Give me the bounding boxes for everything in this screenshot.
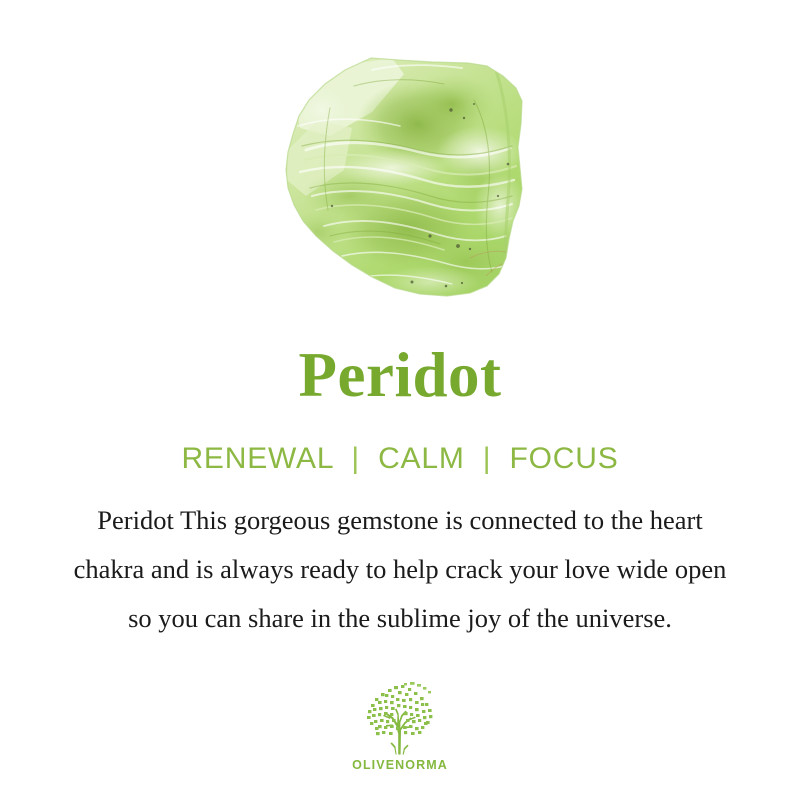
olive-tree-icon (354, 682, 446, 756)
gemstone-body (270, 40, 540, 310)
keyword-renewal: RENEWAL (181, 442, 333, 475)
product-card: Peridot RENEWAL | CALM | FOCUS Peridot T… (0, 0, 800, 800)
keyword-list: RENEWAL | CALM | FOCUS (0, 440, 800, 478)
keyword-separator: | (474, 442, 501, 475)
description-line: so you can share in the sublime joy of t… (24, 594, 776, 643)
description-text: Peridot This gorgeous gemstone is connec… (24, 496, 776, 643)
keyword-calm: CALM (378, 442, 465, 475)
keyword-focus: FOCUS (510, 442, 619, 475)
peridot-raw-crystal-icon (0, 0, 800, 320)
keyword-separator: | (342, 442, 369, 475)
description-line: Peridot This gorgeous gemstone is connec… (24, 496, 776, 545)
brand-wordmark: OLIVENORMA (0, 758, 800, 772)
gemstone-image (0, 0, 800, 320)
page-title: Peridot (0, 336, 800, 414)
brand-logo: OLIVENORMA (0, 682, 800, 772)
description-line: chakra and is always ready to help crack… (24, 545, 776, 594)
